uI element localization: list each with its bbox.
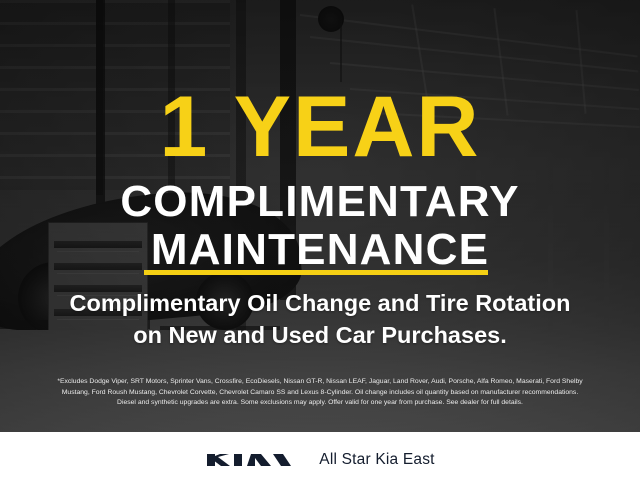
disclaimer-text: *Excludes Dodge Viper, SRT Motors, Sprin… (14, 377, 626, 409)
headline-maintenance: MAINTENANCE (0, 226, 640, 274)
disclaimer-line-1: *Excludes Dodge Viper, SRT Motors, Sprin… (14, 377, 626, 388)
disclaimer-line-2: Mustang, Ford Roush Mustang, Chevrolet C… (14, 388, 626, 399)
kia-logo-icon (205, 448, 293, 472)
footer-branding: All Star Kia East (205, 448, 434, 472)
banner-content: 1 YEAR COMPLIMENTARY MAINTENANCE Complim… (0, 0, 640, 432)
headline-complimentary: COMPLIMENTARY (0, 178, 640, 226)
subheadline: Complimentary Oil Change and Tire Rotati… (18, 288, 622, 352)
subheadline-line-2: on New and Used Car Purchases. (18, 320, 622, 352)
subheadline-line-1: Complimentary Oil Change and Tire Rotati… (18, 288, 622, 320)
disclaimer-line-3: Diesel and synthetic upgrades are extra.… (14, 398, 626, 409)
headline-year: 1 YEAR (0, 84, 640, 170)
yellow-divider (144, 270, 488, 275)
headline-block: COMPLIMENTARY MAINTENANCE (0, 178, 640, 273)
dealer-name: All Star Kia East (319, 451, 434, 469)
footer-bar: All Star Kia East (0, 432, 640, 488)
promo-banner: 1 YEAR COMPLIMENTARY MAINTENANCE Complim… (0, 0, 640, 488)
